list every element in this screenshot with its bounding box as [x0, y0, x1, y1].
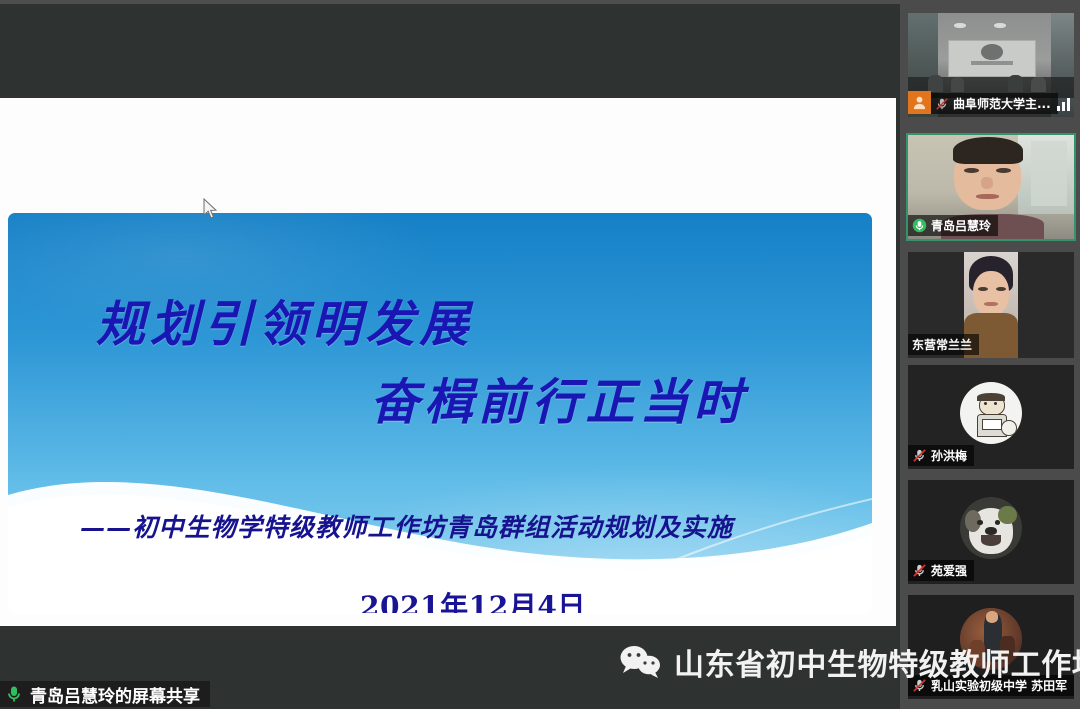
share-status-label: 青岛吕慧玲的屏幕共享: [30, 682, 200, 707]
mic-muted-icon: [935, 97, 949, 111]
screen-share-status-bar: 青岛吕慧玲的屏幕共享: [0, 681, 210, 707]
avatar: [908, 91, 931, 114]
shared-screen-region: 规划引领明发展 奋楫前行正当时 ——初中生物学特级教师工作坊青岛群组活动规划及实…: [0, 0, 900, 709]
shared-app-topbar: [0, 0, 900, 98]
mic-on-icon: [4, 684, 24, 704]
participant-name: 孙洪梅: [931, 447, 967, 464]
participant-name-chip: 孙洪梅: [908, 445, 974, 466]
topbar-edge-divider: [0, 0, 900, 4]
participant-name-chip: 青岛吕慧玲: [908, 215, 998, 236]
participant-name: 青岛吕慧玲: [931, 217, 991, 234]
slide-title-line-2: 奋楫前行正当时: [370, 363, 747, 434]
slide-date: 2021年12月4日: [360, 585, 586, 613]
mic-muted-icon: [912, 448, 927, 463]
user-avatar-icon: [912, 95, 927, 110]
participant-tile[interactable]: 孙洪梅: [908, 365, 1074, 469]
audio-level-meter: [1057, 97, 1070, 111]
meeting-screen-share-window: 规划引领明发展 奋楫前行正当时 ——初中生物学特级教师工作坊青岛群组活动规划及实…: [0, 0, 1080, 709]
participant-name: 苑爱强: [931, 562, 967, 579]
participant-name-chip: 曲阜师范大学主...: [931, 93, 1058, 114]
participant-tile[interactable]: 东营常兰兰: [908, 252, 1074, 358]
participant-name: 乳山实验初级中学 苏田军: [931, 677, 1067, 694]
mic-on-icon: [912, 218, 927, 233]
participant-tile[interactable]: 曲阜师范大学主...: [908, 13, 1074, 117]
slide-title-line-1: 规划引领明发展: [96, 285, 473, 356]
avatar: [960, 382, 1022, 444]
slide-text-layer: 规划引领明发展 奋楫前行正当时 ——初中生物学特级教师工作坊青岛群组活动规划及实…: [8, 213, 872, 613]
avatar: [960, 497, 1022, 559]
participant-filmstrip[interactable]: 曲阜师范大学主...: [900, 0, 1080, 709]
participant-tile[interactable]: 乳山实验初级中学 苏田军: [908, 595, 1074, 699]
participant-name-chip: 乳山实验初级中学 苏田军: [908, 675, 1074, 696]
mouse-cursor-icon: [203, 198, 219, 220]
slide-subtitle: ——初中生物学特级教师工作坊青岛群组活动规划及实施: [80, 508, 733, 544]
participant-tile[interactable]: 青岛吕慧玲: [908, 135, 1074, 239]
participant-name: 东营常兰兰: [912, 336, 972, 353]
mic-muted-icon: [912, 678, 927, 693]
avatar: [960, 608, 1022, 670]
slide-surface[interactable]: 规划引领明发展 奋楫前行正当时 ——初中生物学特级教师工作坊青岛群组活动规划及实…: [8, 213, 872, 613]
participant-name-chip: 东营常兰兰: [908, 334, 979, 355]
mic-muted-icon: [912, 563, 927, 578]
presentation-canvas[interactable]: 规划引领明发展 奋楫前行正当时 ——初中生物学特级教师工作坊青岛群组活动规划及实…: [0, 98, 896, 626]
participant-name-chip: 苑爱强: [908, 560, 974, 581]
participant-name: 曲阜师范大学主...: [953, 95, 1051, 112]
participant-tile[interactable]: 苑爱强: [908, 480, 1074, 584]
